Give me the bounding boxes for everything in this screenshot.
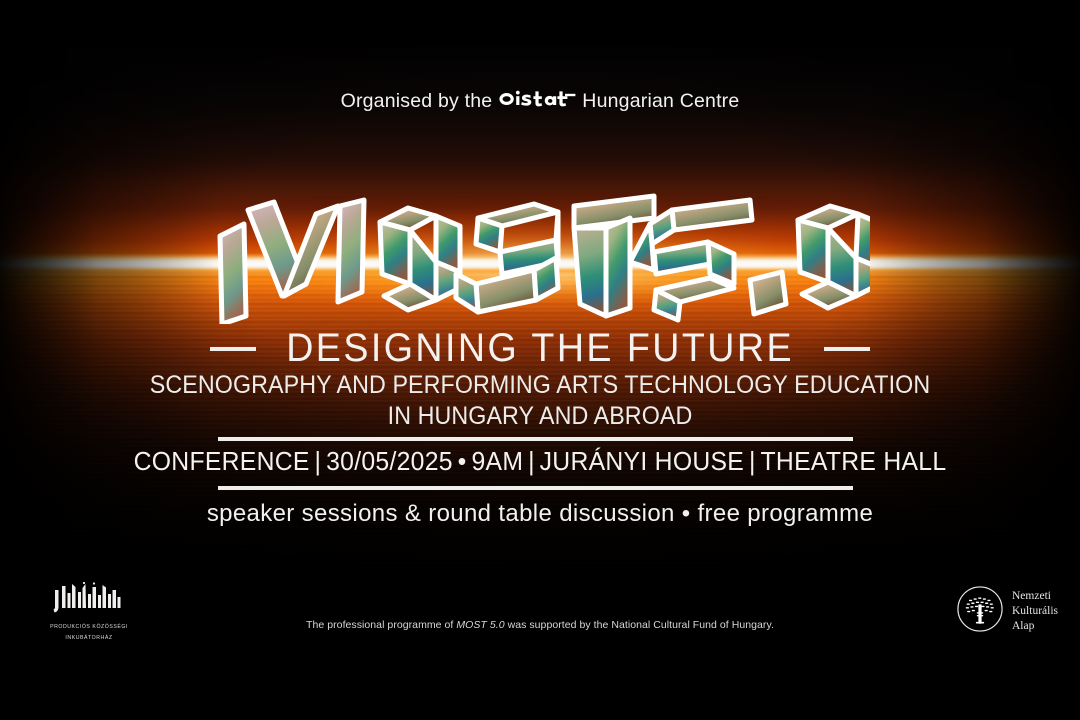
- nka-line-3: Alap: [1012, 620, 1034, 632]
- poster-canvas: Organised by theHungarian Centre: [0, 0, 1080, 720]
- tagline-dash-left: [210, 347, 256, 351]
- organised-by-line: Organised by theHungarian Centre: [0, 88, 1080, 116]
- rule-above-conference: [218, 437, 853, 441]
- letterbox-top: [0, 0, 1080, 47]
- nka-line-1: Nemzeti: [1012, 590, 1051, 602]
- subtitle-block: SCENOGRAPHY AND PERFORMING ARTS TECHNOLO…: [38, 370, 1042, 431]
- conference-room: THEATRE HALL: [761, 448, 947, 476]
- conference-sep-1: |: [310, 448, 326, 476]
- tagline-row: DESIGNING THE FUTURE: [0, 326, 1080, 371]
- funding-credit: The professional programme of MOST 5.0 w…: [0, 619, 1080, 631]
- organised-suffix: Hungarian Centre: [582, 90, 739, 112]
- credit-after: was supported by the National Cultural F…: [505, 619, 774, 631]
- conference-date: 30/05/2025: [326, 448, 453, 476]
- juranyi-wordmark-icon: [34, 582, 144, 621]
- nka-emblem-icon: [957, 586, 1003, 637]
- subtitle-line-1: SCENOGRAPHY AND PERFORMING ARTS TECHNOLO…: [150, 371, 930, 399]
- conference-sep-3: |: [744, 448, 760, 476]
- wordmark-most-5-0: [0, 192, 1080, 324]
- nka-line-2: Kulturális: [1012, 605, 1058, 617]
- poster-content: Organised by theHungarian Centre: [0, 0, 1080, 720]
- nka-wordmark: Nemzeti Kulturális Alap: [1012, 589, 1058, 635]
- credit-before: The professional programme of: [306, 619, 456, 631]
- conference-time: 9AM: [471, 448, 523, 476]
- tagline-text: DESIGNING THE FUTURE: [286, 326, 794, 371]
- juranyi-logo[interactable]: PRODUKCIÓS KÖZÖSSÉGI INKUBÁTORHÁZ: [34, 582, 144, 643]
- programme-line: speaker sessions & round table discussio…: [0, 500, 1080, 528]
- conference-sep-2: |: [523, 448, 539, 476]
- oistat-logo: [497, 88, 577, 116]
- juranyi-caption-line-1: PRODUKCIÓS KÖZÖSSÉGI: [34, 624, 144, 632]
- rule-below-conference: [218, 486, 853, 490]
- nka-logo[interactable]: Nemzeti Kulturális Alap: [957, 586, 1058, 637]
- conference-label: CONFERENCE: [134, 448, 310, 476]
- conference-details-line: CONFERENCE|30/05/2025•9AM|JURÁNYI HOUSE|…: [16, 448, 1064, 477]
- juranyi-caption-line-2: INKUBÁTORHÁZ: [34, 635, 144, 643]
- tagline-dash-right: [824, 347, 870, 351]
- conference-venue: JURÁNYI HOUSE: [540, 448, 744, 476]
- conference-bullet-1: •: [453, 448, 472, 476]
- subtitle-line-2: IN HUNGARY AND ABROAD: [38, 401, 1042, 432]
- credit-emphasis: MOST 5.0: [456, 619, 504, 631]
- letterbox-bottom: [0, 672, 1080, 720]
- organised-prefix: Organised by the: [341, 90, 493, 112]
